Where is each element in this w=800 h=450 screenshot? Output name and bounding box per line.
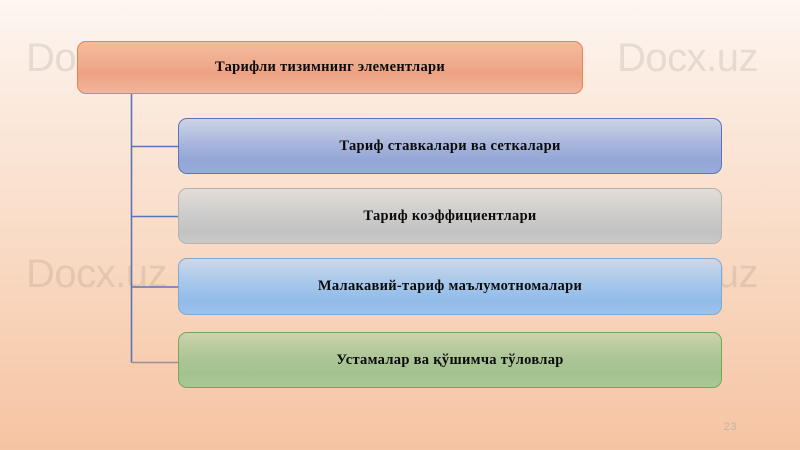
diagram-node-malakaviy-tarif[interactable]: Малакавий-тариф маълумотномалари	[178, 258, 722, 315]
page-number: 23	[724, 421, 737, 433]
diagram-node-root[interactable]: Тарифли тизимнинг элементлари	[77, 41, 583, 94]
diagram-node-label: Тариф ставкалари ва сеткалари	[339, 138, 560, 155]
diagram-node-tarif-koeffitsientlari[interactable]: Тариф коэффициентлари	[178, 188, 722, 244]
diagram-node-root-label: Тарифли тизимнинг элементлари	[215, 59, 445, 76]
diagram-node-ustamalar[interactable]: Устамалар ва қўшимча тўловлар	[178, 332, 722, 388]
diagram-node-label: Устамалар ва қўшимча тўловлар	[336, 352, 563, 369]
diagram-node-tarif-stavkalari[interactable]: Тариф ставкалари ва сеткалари	[178, 118, 722, 174]
diagram-node-label: Тариф коэффициентлари	[363, 208, 536, 225]
slide-canvas: Docx.uz Docx.uz Docx.uz Docx.uz Docx.uz …	[0, 0, 800, 450]
watermark-text: Docx.uz	[26, 252, 167, 297]
diagram-node-label: Малакавий-тариф маълумотномалари	[318, 278, 582, 295]
watermark-text: Docx.uz	[617, 36, 758, 81]
